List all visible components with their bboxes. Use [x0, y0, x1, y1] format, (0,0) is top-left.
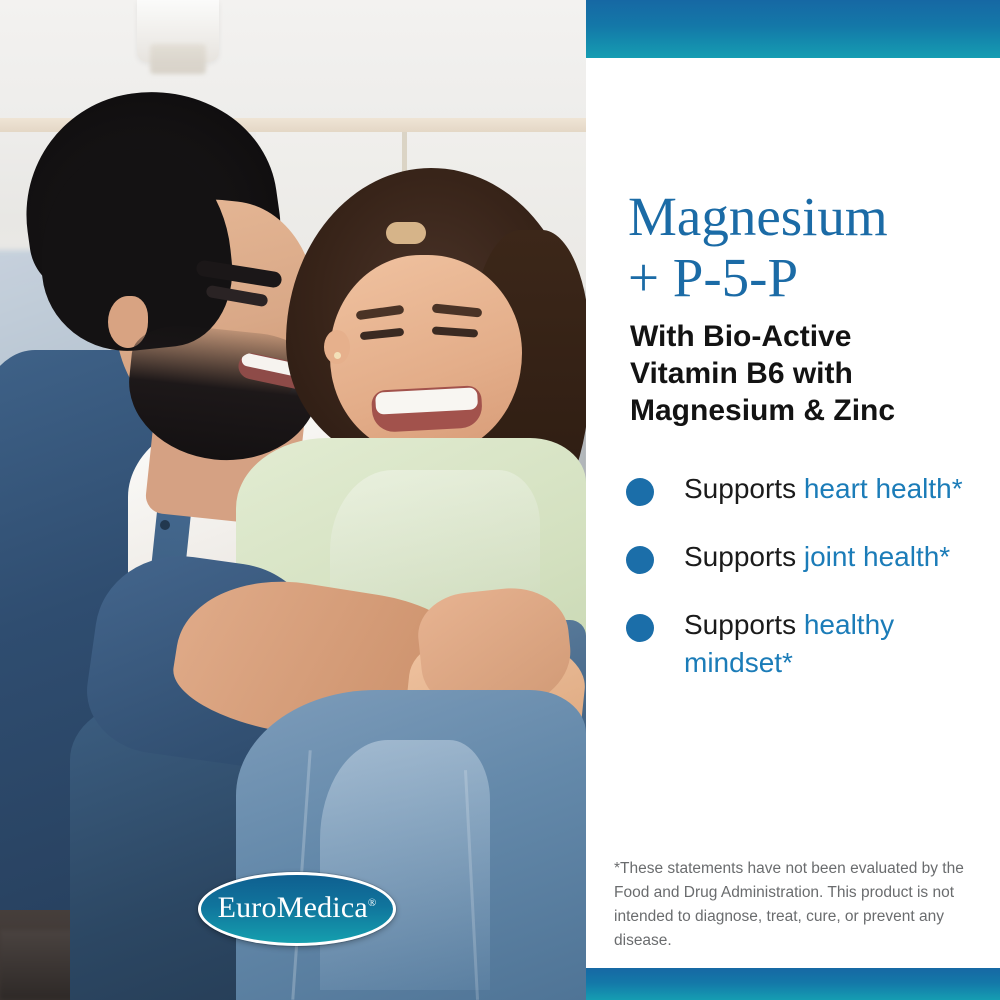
benefit-item: Supports joint health*	[626, 538, 986, 576]
bullet-dot-icon	[626, 614, 654, 642]
photo-girl-mouth	[371, 385, 483, 433]
benefit-highlight: joint health*	[804, 541, 950, 572]
marketing-banner: EuroMedica® Magnesium + P-5-P With Bio-A…	[0, 0, 1000, 1000]
product-title-line-2: + P-5-P	[628, 247, 978, 308]
photo-girl-hair-tie	[386, 222, 426, 244]
benefit-item: Supports heart health*	[626, 470, 986, 508]
product-title-line-1: Magnesium	[628, 186, 978, 247]
lifestyle-photo: EuroMedica®	[0, 0, 586, 1000]
bullet-dot-icon	[626, 478, 654, 506]
benefits-list: Supports heart health* Supports joint he…	[626, 470, 986, 682]
product-title: Magnesium + P-5-P	[628, 186, 978, 308]
euromedica-logo: EuroMedica®	[198, 872, 396, 946]
product-subtitle-line-1: With Bio-Active	[630, 318, 970, 355]
photo-girl-teeth	[375, 387, 478, 414]
benefit-prefix: Supports	[684, 541, 804, 572]
top-accent-bar	[586, 0, 1000, 58]
bullet-dot-icon	[626, 546, 654, 574]
registered-trademark-icon: ®	[368, 897, 377, 909]
fda-disclaimer: *These statements have not been evaluate…	[614, 857, 976, 953]
photo-girl-earring	[334, 352, 341, 359]
benefit-text: Supports healthy mindset*	[684, 606, 986, 682]
benefit-item: Supports healthy mindset*	[626, 606, 986, 682]
benefit-highlight: heart health*	[804, 473, 963, 504]
benefit-text: Supports joint health*	[684, 538, 950, 576]
photo-jar-secondary	[150, 44, 206, 74]
benefit-prefix: Supports	[684, 609, 804, 640]
photo-man-shirt-button	[160, 520, 170, 530]
benefit-prefix: Supports	[684, 473, 804, 504]
benefit-text: Supports heart health*	[684, 470, 963, 508]
bottom-accent-bar	[586, 968, 1000, 1000]
product-subtitle: With Bio-Active Vitamin B6 with Magnesiu…	[630, 318, 970, 429]
product-subtitle-line-2: Vitamin B6 with	[630, 355, 970, 392]
euromedica-logo-text: EuroMedica®	[218, 891, 377, 925]
product-subtitle-line-3: Magnesium & Zinc	[630, 392, 970, 429]
